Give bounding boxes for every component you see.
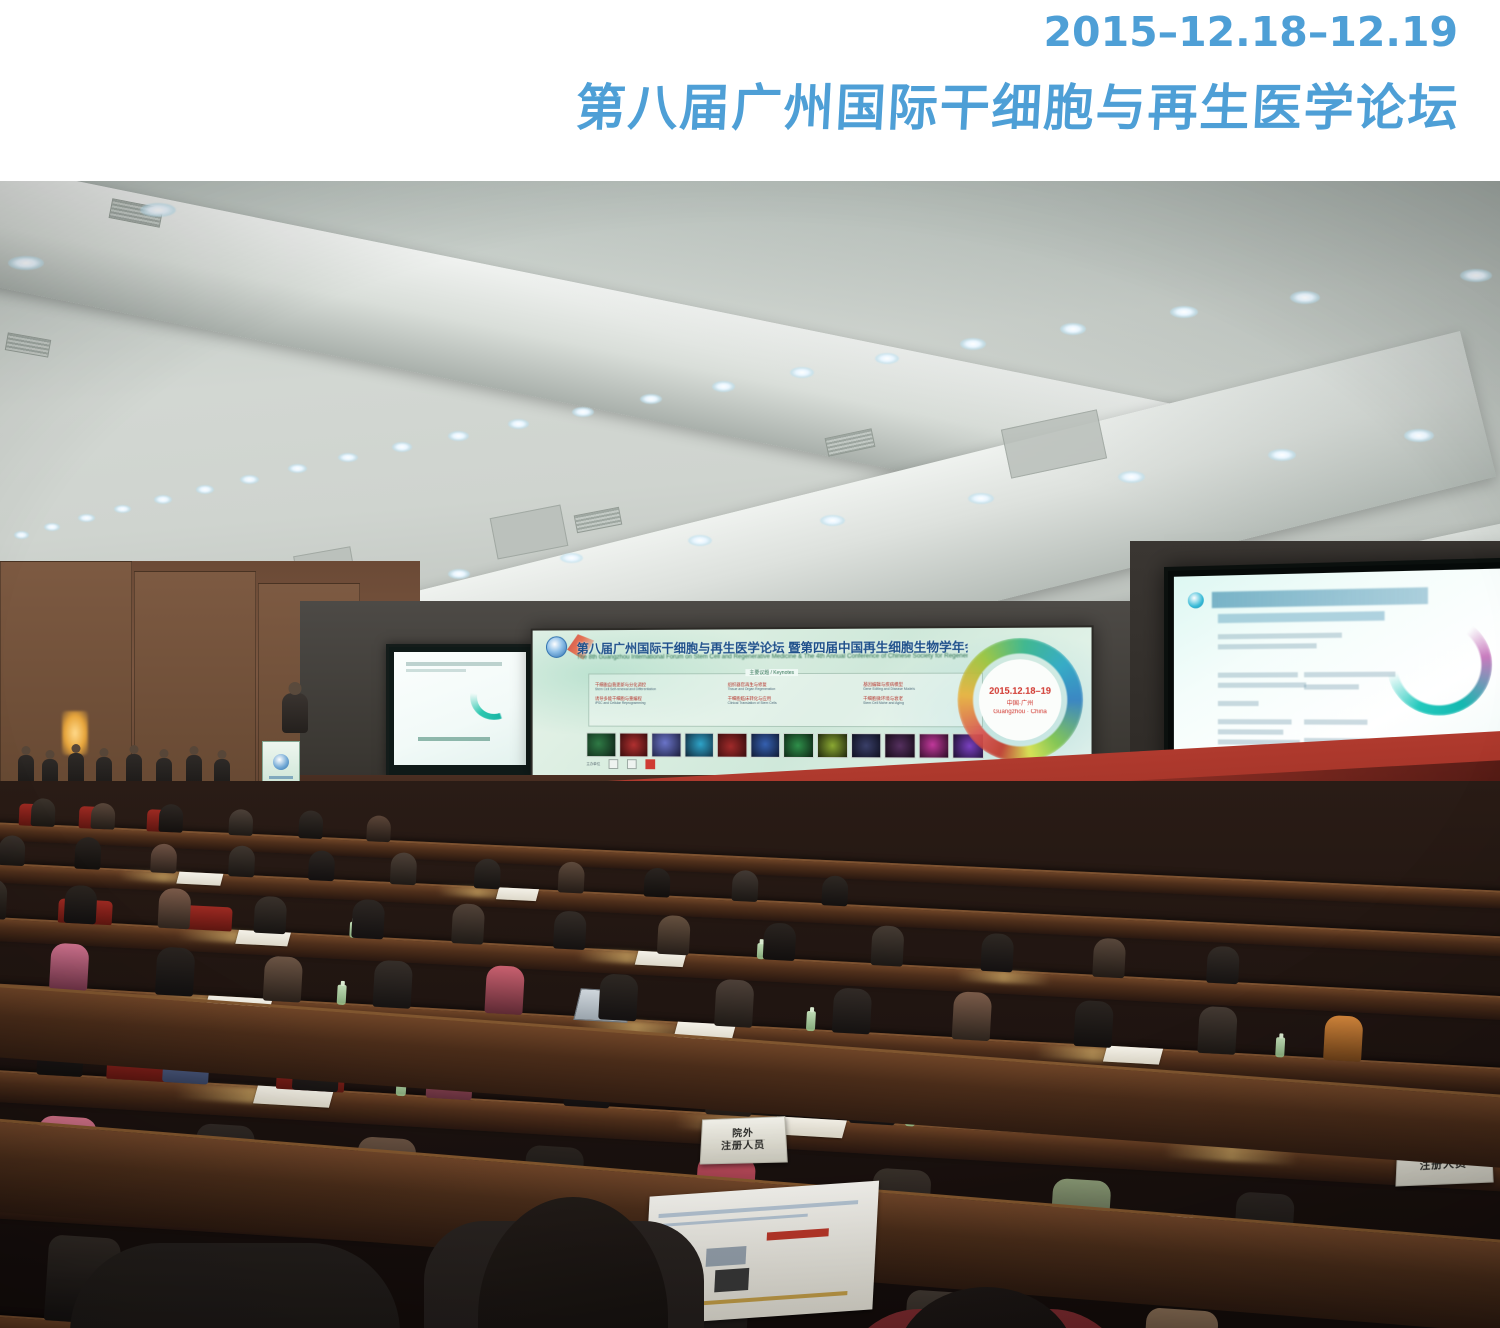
audience-person [158, 888, 192, 930]
water-bottle [337, 985, 347, 1005]
stage-speaker [282, 693, 308, 733]
micrograph-thumbnail [784, 733, 814, 758]
audience-person [657, 915, 691, 956]
ceiling-downlight [560, 553, 583, 563]
audience-person [474, 858, 501, 889]
keynote-item: 基因编辑与疾病模型 Gene Editing and Disease Model… [863, 682, 915, 691]
slide-text-line [1218, 682, 1306, 687]
booklet-block [706, 1246, 747, 1267]
slide-text-line [1218, 719, 1292, 724]
audience-person [253, 896, 287, 935]
slide-text-line [1218, 643, 1317, 649]
ceiling-downlight [448, 569, 470, 579]
slide-subtitle-bar [1218, 611, 1385, 623]
audience-person [484, 965, 525, 1015]
ceiling-downlight [1290, 291, 1320, 304]
conference-photo: 第八届广州国际干细胞与再生医学论坛 暨第四届中国再生细胞生物学年会 The 8t… [0, 181, 1500, 1328]
booklet-accent [767, 1228, 829, 1240]
ceiling-downlight [688, 535, 712, 546]
audience-person [366, 815, 391, 842]
audience-person [64, 885, 98, 925]
audience-person [228, 845, 255, 877]
audience-person [0, 835, 26, 866]
audience-person [74, 837, 102, 870]
audience-person [1206, 946, 1240, 985]
banner-keynote-column: 干细胞自我更新与分化调控 Stem Cell Self-renewal and … [595, 682, 656, 710]
audience-person [1197, 1006, 1238, 1055]
audience-person [31, 798, 56, 827]
micrograph-thumbnail [851, 733, 882, 758]
banner-title-en: The 8th Guangzhou International Forum on… [577, 652, 968, 660]
ceiling-downlight [1118, 471, 1145, 483]
audience-person [1092, 938, 1126, 979]
ceiling-downlight [508, 419, 529, 429]
ceiling-downlight [8, 256, 44, 270]
ceiling-downlight [1404, 429, 1434, 442]
micrograph-thumbnail [884, 733, 915, 758]
keynote-en: iPSC and Cellular Reprogramming [595, 701, 656, 705]
audience-person [1141, 1307, 1219, 1328]
audience-person [763, 922, 797, 961]
ceiling-downlight [338, 453, 358, 462]
desk-paper [496, 887, 539, 901]
slide-text-line [1304, 684, 1359, 689]
ring-city-cn: 中国·广州 [1007, 697, 1034, 706]
slide-subtitle-bar [406, 669, 466, 672]
sponsor-label: 主办单位 [586, 761, 600, 766]
micrograph-thumbnail [817, 733, 848, 758]
slide-swoosh-graphic [470, 674, 518, 720]
ring-city-en: Guangzhou · China [993, 709, 1047, 715]
slide-text-line [1218, 672, 1298, 678]
audience-person [558, 861, 585, 893]
audience-person [390, 852, 418, 885]
ceiling-downlight [1060, 323, 1086, 335]
audience-person [731, 870, 758, 902]
water-bottle [1275, 1037, 1285, 1057]
booklet-block [714, 1268, 749, 1293]
ring-inner-label: 2015.12.18–19 中国·广州 Guangzhou · China [979, 659, 1061, 741]
left-projection-screen [386, 644, 534, 778]
keynote-item: 干细胞自我更新与分化调控 Stem Cell Self-renewal and … [595, 682, 656, 691]
foreground-attendee [70, 1243, 400, 1328]
ceiling-downlight [572, 407, 594, 417]
keynote-item: 干细胞微环境与衰老 Stem Cell Niche and Aging [863, 696, 915, 705]
desk-paper [1103, 1046, 1163, 1065]
audience-row [0, 791, 1500, 871]
ceiling-downlight [14, 531, 29, 539]
ceiling-downlight [78, 514, 95, 522]
ring-date: 2015.12.18–19 [989, 685, 1051, 695]
slide-text-line [1218, 729, 1283, 734]
ceiling-downlight [1170, 306, 1198, 318]
ceiling-downlight [820, 515, 845, 526]
audience-person [1323, 1015, 1363, 1062]
audience-person [263, 956, 303, 1003]
ceiling-downlight [1268, 449, 1296, 461]
ceiling-downlight [448, 431, 469, 441]
tent-top-text: 院外 [732, 1128, 754, 1140]
keynote-item: 干细胞临床转化与应用 Clinical Translation of Stem … [728, 696, 777, 705]
audience-person [553, 910, 587, 950]
conference-title: 第八届广州国际干细胞与再生医学论坛 [574, 68, 1462, 140]
keynote-item: 诱导多能干细胞与重编程 iPSC and Cellular Reprogramm… [595, 696, 656, 705]
audience-person [91, 803, 116, 830]
audience-person [871, 925, 905, 967]
tent-bottom-text: 注册人员 [721, 1139, 765, 1152]
ceiling-downlight [640, 394, 662, 404]
micrograph-thumbnail [750, 733, 780, 758]
keynote-item: 组织器官再生与修复 Tissue and Organ Regeneration [728, 682, 777, 691]
ceiling-downlight [1460, 269, 1492, 282]
ceiling-downlight [875, 353, 899, 364]
audience-person [1073, 1000, 1114, 1048]
ceiling-downlight [712, 381, 735, 392]
slide-swoosh-graphic [1387, 614, 1492, 716]
slide-text-line [1218, 633, 1342, 640]
sponsor-logo-icon [609, 759, 619, 769]
stage-backdrop-banner: 第八届广州国际干细胞与再生医学论坛 暨第四届中国再生细胞生物学年会 The 8t… [531, 625, 1094, 780]
audience-person [150, 843, 177, 873]
sponsor-logo-icon [646, 759, 656, 769]
page-header: 2015–12.18–12.19 第八届广州国际干细胞与再生医学论坛 [0, 0, 1500, 181]
speaker-head [289, 682, 302, 695]
keynote-en: Gene Editing and Disease Models [863, 687, 915, 691]
audience-person [451, 903, 485, 945]
left-screen-content [394, 652, 526, 765]
audience-person [49, 943, 90, 991]
audience-person [228, 809, 253, 836]
micrograph-thumbnail [717, 733, 747, 758]
ceiling-downlight [392, 442, 412, 452]
audience-person [644, 867, 671, 897]
audience-person [0, 878, 8, 920]
audience-person [351, 899, 385, 940]
banner-keynote-column: 基因编辑与疾病模型 Gene Editing and Disease Model… [863, 682, 915, 710]
booklet-band [658, 1200, 858, 1218]
ceiling-downlight [140, 203, 176, 217]
slide-caption-bar [418, 737, 490, 741]
keynote-en: Stem Cell Niche and Aging [863, 701, 915, 705]
audience-person [952, 991, 993, 1041]
micrograph-thumbnail [918, 733, 949, 758]
desk-paper [176, 872, 223, 886]
keynote-en: Clinical Translation of Stem Cells [728, 701, 777, 705]
sponsor-logo-icon [627, 759, 637, 769]
rollup-text-line [269, 776, 293, 779]
audience-person [714, 979, 755, 1028]
micrograph-thumbnail [586, 732, 616, 757]
slide-logo-icon [1188, 592, 1204, 608]
micrograph-thumbnail [651, 733, 681, 758]
table-tent-card: 院外 注册人员 [700, 1116, 788, 1164]
keynote-en: Tissue and Organ Regeneration [728, 687, 777, 691]
banner-institution-logo-icon [546, 636, 567, 658]
audience-person [821, 875, 848, 906]
micrograph-thumbnail [619, 733, 649, 758]
audience-person [298, 810, 323, 839]
water-bottle [806, 1011, 816, 1031]
ceiling-downlight [114, 505, 131, 513]
slide-title-bar [406, 662, 502, 666]
conference-date: 2015–12.18–12.19 [1044, 8, 1458, 56]
banner-ring-logo: 2015.12.18–19 中国·广州 Guangzhou · China [957, 638, 1083, 763]
ceiling-downlight [288, 464, 307, 473]
audience-person [832, 987, 872, 1034]
slide-text-line [1218, 701, 1259, 706]
micrograph-thumbnail [684, 733, 714, 758]
ceiling-downlight [968, 493, 994, 504]
keynote-en: Stem Cell Self-renewal and Differentiati… [595, 687, 656, 691]
banner-keynote-column: 组织器官再生与修复 Tissue and Organ Regeneration … [728, 682, 777, 710]
audience-person [155, 947, 196, 997]
audience-person [598, 973, 639, 1021]
rollup-logo-icon [273, 754, 289, 770]
audience-person [158, 804, 183, 833]
ceiling-downlight [960, 338, 986, 350]
banner-keynote-box: 主要议题 / Keynotes 干细胞自我更新与分化调控 Stem Cell S… [588, 673, 983, 728]
ceiling-downlight [44, 523, 60, 531]
ceiling-downlight [790, 367, 814, 378]
audience-person [308, 850, 335, 881]
banner-micrograph-strip [586, 732, 984, 756]
slide-text-line [1304, 719, 1367, 724]
slide-title-bar [1212, 587, 1428, 608]
slide-text-line [1304, 672, 1395, 678]
ceiling-downlight [196, 485, 214, 494]
ceiling-downlight [154, 495, 172, 504]
ceiling-downlight [240, 475, 259, 484]
audience-person [373, 960, 414, 1009]
audience-person [980, 933, 1014, 973]
banner-keynote-header: 主要议题 / Keynotes [745, 669, 798, 676]
